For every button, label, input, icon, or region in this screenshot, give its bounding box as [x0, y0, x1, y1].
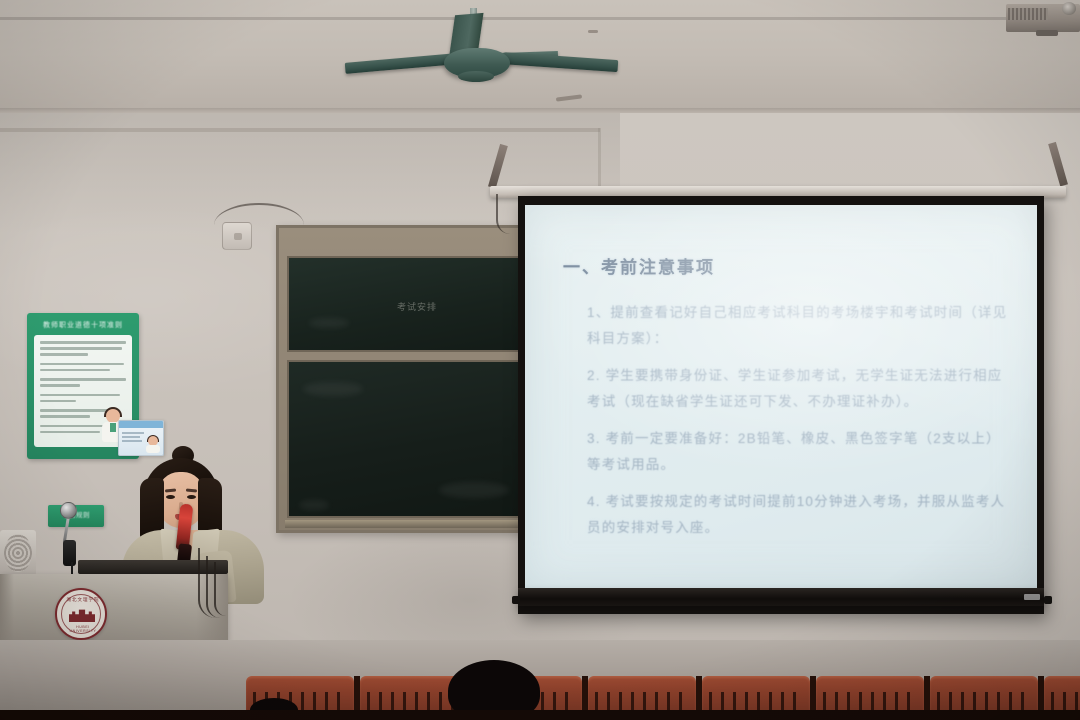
- classroom-scene: 考试安排 一、考前注意事项 1、提前查看记好自己相应考试科目的考场楼宇和考试时间…: [0, 0, 1080, 720]
- projector-mount: [1036, 30, 1058, 36]
- screen-brand-label: [1024, 594, 1040, 600]
- chalk-tray: [285, 520, 533, 528]
- presenter-eye-left: [166, 495, 175, 499]
- presenter-eye-right: [187, 495, 196, 499]
- projection-screen: 一、考前注意事项 1、提前查看记好自己相应考试科目的考场楼宇和考试时间（详见科目…: [525, 205, 1037, 588]
- slide-bullet-1: 1、提前查看记好自己相应考试科目的考场楼宇和考试时间（详见科目方案）：: [587, 300, 1013, 352]
- info-card-lines: [122, 432, 144, 444]
- screen-power-cable: [496, 194, 510, 234]
- microphone-head-icon: [60, 502, 77, 519]
- blackboard-chalk-text: 考试安排: [397, 300, 437, 313]
- school-emblem: 湖北文理学院 HUBEI UNIVERSITY: [55, 588, 107, 640]
- slide-bullet-4: 4. 考试要按规定的考试时间提前10分钟进入考场，并服从监考人员的安排对号入座。: [587, 489, 1013, 541]
- slide-bullet-2: 2. 学生要携带身份证、学生证参加考试，无学生证无法进行相应考试（现在缺省学生证…: [587, 363, 1013, 415]
- screen-weight-bar: [518, 588, 1044, 606]
- chalk-smudge: [439, 482, 509, 498]
- wall-speaker-grill-icon: [234, 233, 242, 240]
- chalk-smudge: [303, 382, 363, 396]
- projector-lens-icon: [1062, 2, 1076, 15]
- chalk-smudge: [309, 318, 349, 328]
- blackboard-upper-panel: 考试安排: [287, 256, 531, 352]
- screen-bar-end-right: [1044, 596, 1052, 604]
- blackboard: 考试安排: [276, 225, 536, 533]
- fan-blade: [500, 52, 619, 72]
- podium-cable: [214, 562, 226, 616]
- projector: [1006, 0, 1080, 46]
- slide-bullet-3: 3. 考前一定要准备好：2B铅笔、橡皮、黑色签字笔（2支以上）等考试用品。: [587, 426, 1013, 478]
- wall-speaker: [222, 222, 252, 250]
- wall-moulding: [0, 128, 600, 132]
- info-card-header: [119, 421, 164, 428]
- chalk-smudge: [299, 500, 329, 510]
- podium-front-panel: [0, 574, 228, 642]
- screen-bar-end-left: [512, 596, 520, 604]
- slide-body: 1、提前查看记好自己相应考试科目的考场楼宇和考试时间（详见科目方案）： 2. 学…: [563, 300, 1013, 541]
- slide: 一、考前注意事项 1、提前查看记好自己相应考试科目的考场楼宇和考试时间（详见科目…: [525, 205, 1037, 588]
- projector-vent: [1008, 8, 1048, 20]
- podium-bevel-left: [0, 574, 14, 642]
- foreground-shadow: [0, 710, 1080, 720]
- school-emblem-bottom-text: HUBEI UNIVERSITY: [64, 625, 102, 633]
- slide-title: 一、考前注意事项: [563, 253, 1013, 278]
- fan-blade: [345, 53, 458, 74]
- ceiling-fan: [340, 8, 640, 118]
- school-emblem-top-text: 湖北文理学院: [64, 597, 102, 606]
- microphone-arm: [63, 516, 70, 542]
- wall-poster-title: 教师职业道德十项准则: [35, 320, 131, 331]
- blackboard-lower-panel: [287, 360, 531, 518]
- fan-hub-cap: [458, 71, 494, 82]
